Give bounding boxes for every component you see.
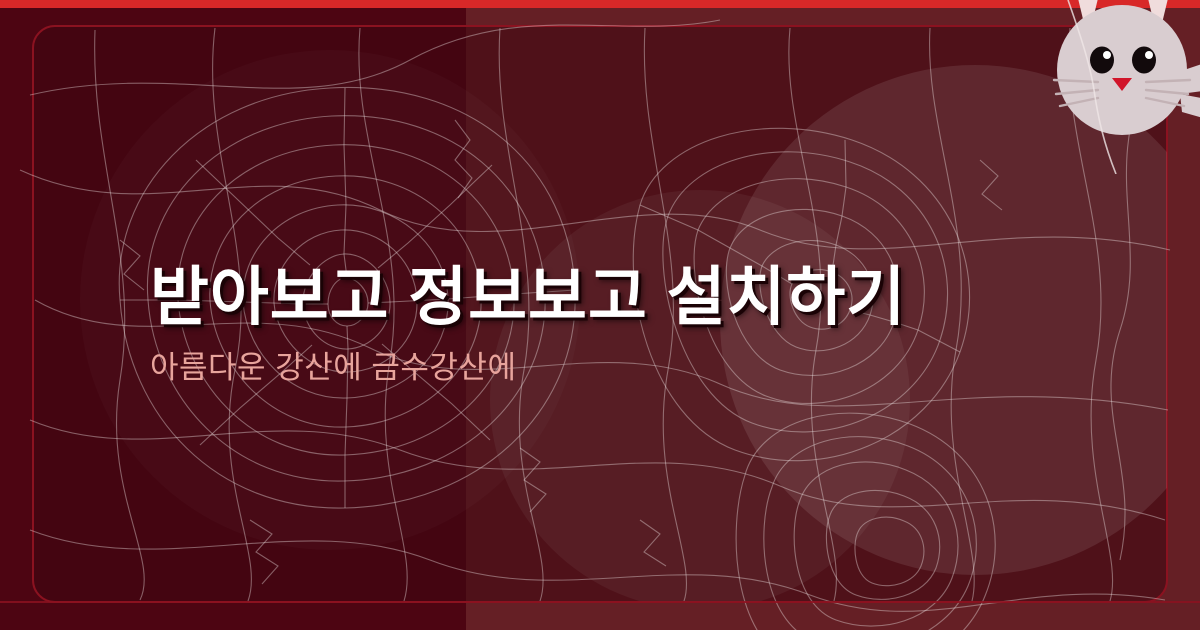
eye-right-highlight-icon [1145, 51, 1153, 59]
eye-left-highlight-icon [1103, 51, 1111, 59]
cat-face-mascot [1030, 0, 1200, 174]
banner: 받아보고 정보보고 설치하기 아름다운 강산에 금수강산에 [0, 0, 1200, 630]
top-accent-bar [0, 0, 1200, 8]
background-artwork [0, 0, 1200, 630]
bottom-rule [0, 601, 1200, 603]
eye-left-icon [1090, 47, 1114, 74]
eye-right-icon [1132, 47, 1156, 74]
